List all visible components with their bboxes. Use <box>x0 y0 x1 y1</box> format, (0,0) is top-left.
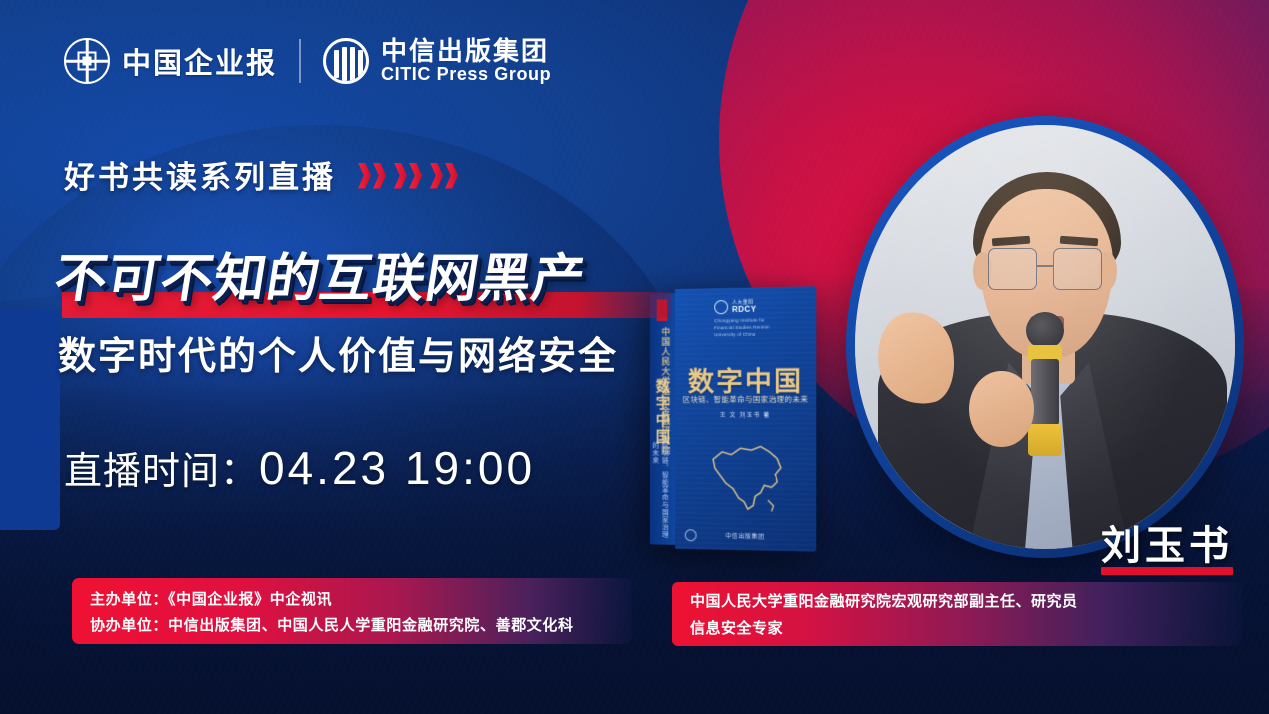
speaker-bio-banner: 中国人民大学重阳金融研究院宏观研究部副主任、研究员 信息安全专家 <box>672 582 1242 646</box>
host-banner: 主办单位：《中国企业报》中企视讯 协办单位：中信出版集团、中国人民人学重阳金融研… <box>72 578 632 644</box>
logo-citic-press: 中信出版集团 CITIC Press Group <box>323 38 551 84</box>
host-line-organizer: 主办单位：《中国企业报》中企视讯 <box>90 588 614 609</box>
rdcy-tagline-text: Chongyang Institute for Financial Studie… <box>714 317 772 338</box>
decorative-left-tab <box>0 310 60 530</box>
speaker-name-block: 刘玉书 <box>1101 513 1233 575</box>
page-title: 不可不知的互联网黑产 <box>50 236 592 311</box>
microphone-icon <box>1026 312 1064 456</box>
book-spine-title: 数字中国 <box>652 378 673 445</box>
rdcy-name-en: RDCY <box>732 305 757 313</box>
book-subtitle: 区块链、智能革命与国家治理的未来 <box>675 394 816 405</box>
host-line-coorganizer: 协办单位：中信出版集团、中国人民人学重阳金融研究院、善郡文化科 <box>90 614 614 635</box>
logo-left-label: 中国企业报 <box>122 40 277 82</box>
speaker-bio-line-1: 中国人民大学重阳金融研究院宏观研究部副主任、研究员 <box>690 590 1224 611</box>
logo-china-enterprise-news: 中国企业报 <box>64 38 277 84</box>
citic-press-emblem-icon <box>323 38 369 84</box>
series-row: 好书共读系列直播 <box>64 152 458 197</box>
series-label: 好书共读系列直播 <box>64 152 336 197</box>
brand-logos: 中国企业报 中信出版集团 CITIC Press Group <box>64 38 551 84</box>
page-subtitle: 数字时代的个人价值与网络安全 <box>58 325 618 380</box>
book-spine: 中国人民大学重阳金融研究院 数字中国 区块链、智能革命与国家治理的未来 <box>650 293 675 545</box>
book-front-face: 人大重阳 RDCY Chongyang Institute for Financ… <box>675 286 816 551</box>
poster-canvas: 中国企业报 中信出版集团 CITIC Press Group 好书共读系列直播 … <box>0 0 1269 714</box>
rdcy-emblem-icon: 人大重阳 RDCY <box>714 300 756 315</box>
book-authors: 王 文 刘玉书 著 <box>675 410 816 419</box>
double-chevron-right-icon <box>358 161 458 189</box>
logo-right-label-en: CITIC Press Group <box>381 65 551 83</box>
speaker-name: 刘玉书 <box>1101 513 1233 571</box>
speaker-photo-frame <box>846 116 1244 558</box>
logo-divider <box>299 39 301 83</box>
china-map-outline-icon <box>700 428 792 521</box>
schedule-label: 直播时间： <box>64 440 259 495</box>
book-publisher-logo-icon <box>685 529 697 541</box>
book-cover: 中国人民大学重阳金融研究院 数字中国 区块链、智能革命与国家治理的未来 人大重阳… <box>650 286 816 551</box>
schedule-value: 04.23 19:00 <box>259 441 535 495</box>
rdcy-tagline: Chongyang Institute for Financial Studie… <box>714 317 772 338</box>
book-spine-subtitle: 区块链、智能革命与国家治理的未来 <box>655 442 671 545</box>
schedule-row: 直播时间： 04.23 19:00 <box>64 440 535 495</box>
china-enterprise-news-emblem-icon <box>64 38 110 84</box>
speaker-bio-line-2: 信息安全专家 <box>690 617 1224 638</box>
speaker-portrait <box>855 125 1235 549</box>
headline-wrap: 不可不知的互联网黑产 <box>56 236 586 311</box>
logo-right-label-cn: 中信出版集团 <box>381 39 551 66</box>
